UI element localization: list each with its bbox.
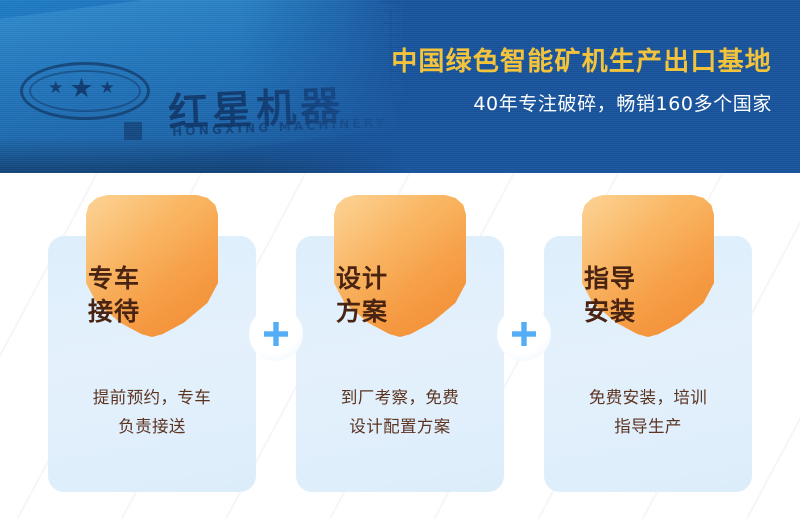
desc-line-2: 负责接送 bbox=[58, 413, 246, 442]
plus-icon bbox=[511, 321, 537, 347]
card-description-reception: 提前预约，专车 负责接送 bbox=[58, 384, 246, 442]
promo-banner-page: ★★★ 红星机器 HONGXING MACHINERY 中国绿色智能矿机生产出口… bbox=[0, 0, 800, 519]
badge-line-2: 方案 bbox=[296, 295, 428, 328]
desc-line-1: 提前预约，专车 bbox=[58, 384, 246, 413]
plus-icon bbox=[263, 321, 289, 347]
desc-line-2: 指导生产 bbox=[554, 413, 742, 442]
badge-line-2: 安装 bbox=[544, 295, 676, 328]
service-card-installation[interactable]: 指导 安装 免费安装，培训 指导生产 bbox=[544, 236, 752, 492]
photo-fade-overlay bbox=[0, 0, 410, 173]
badge-line-2: 接待 bbox=[48, 295, 180, 328]
desc-line-1: 到厂考察，免费 bbox=[306, 384, 494, 413]
banner-subtitle: 40年专注破碎，畅销160多个国家 bbox=[391, 93, 772, 116]
card-description-design: 到厂考察，免费 设计配置方案 bbox=[306, 384, 494, 442]
badge-line-1: 指导 bbox=[544, 262, 676, 295]
badge-label-reception: 专车 接待 bbox=[48, 262, 180, 328]
desc-line-1: 免费安装，培训 bbox=[554, 384, 742, 413]
badge-label-design: 设计 方案 bbox=[296, 262, 428, 328]
badge-label-installation: 指导 安装 bbox=[544, 262, 676, 328]
factory-photo: ★★★ 红星机器 HONGXING MACHINERY bbox=[0, 0, 410, 173]
service-card-design[interactable]: 设计 方案 到厂考察，免费 设计配置方案 bbox=[296, 236, 504, 492]
plus-connector-1 bbox=[249, 307, 303, 361]
plus-connector-2 bbox=[497, 307, 551, 361]
desc-line-2: 设计配置方案 bbox=[306, 413, 494, 442]
banner-title: 中国绿色智能矿机生产出口基地 bbox=[391, 48, 772, 78]
badge-line-1: 专车 bbox=[48, 262, 180, 295]
service-card-reception[interactable]: 专车 接待 提前预约，专车 负责接送 bbox=[48, 236, 256, 492]
banner-text-block: 中国绿色智能矿机生产出口基地 40年专注破碎，畅销160多个国家 bbox=[391, 48, 772, 116]
badge-line-1: 设计 bbox=[296, 262, 428, 295]
hero-banner: ★★★ 红星机器 HONGXING MACHINERY 中国绿色智能矿机生产出口… bbox=[0, 0, 800, 173]
service-card-row: 专车 接待 提前预约，专车 负责接送 设计 方案 bbox=[0, 173, 800, 519]
card-description-installation: 免费安装，培训 指导生产 bbox=[554, 384, 742, 442]
